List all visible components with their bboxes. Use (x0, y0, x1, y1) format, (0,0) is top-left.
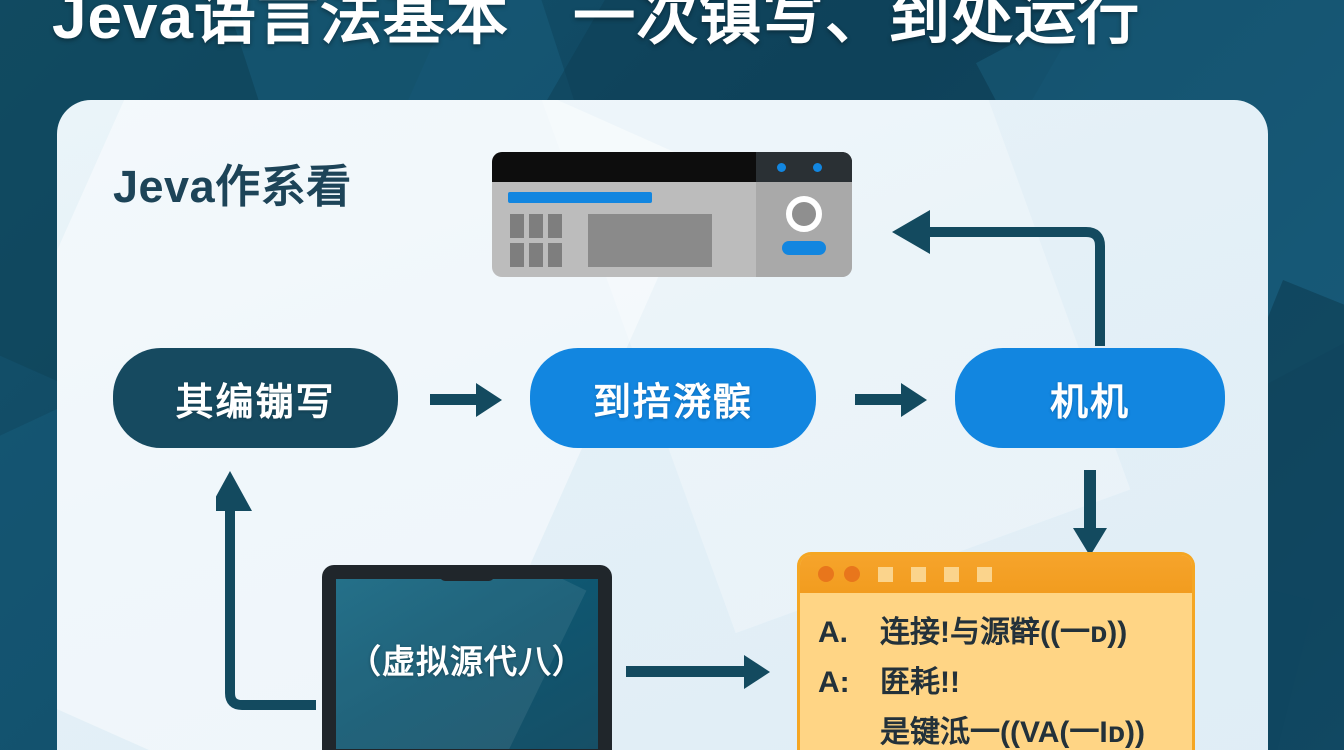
slide-title-part2: 一次镇写、到处运行 (573, 0, 1140, 52)
server-port (510, 214, 524, 238)
flow-node-machine[interactable]: 机机 (955, 348, 1225, 448)
server-port-grid (510, 214, 562, 267)
code-window-icon: A. 连接!与源辥((一ᴅ)) A: 匥耗!! 是键泜一((VA(一Iᴅ)) 自… (797, 552, 1195, 750)
arrow-shaft (855, 394, 903, 405)
arrow-head (901, 383, 927, 417)
arrow-head (476, 383, 502, 417)
code-window-dot-icon[interactable] (844, 566, 860, 582)
laptop-notch (440, 565, 494, 581)
arrow-shaft (1084, 470, 1096, 532)
laptop-icon: （虚拟源代八） (322, 565, 612, 750)
server-port (529, 214, 543, 238)
server-port (548, 243, 562, 267)
server-led-icon (813, 163, 822, 172)
server-port (510, 243, 524, 267)
server-port (529, 243, 543, 267)
code-window-titlebar (800, 555, 1192, 593)
code-window-square-icon (977, 567, 992, 582)
code-line-text: 匥耗!! (880, 657, 960, 701)
code-line-text: 是键泜一((VA(一Iᴅ)) (880, 707, 1145, 750)
arrow-compile-to-machine (855, 383, 927, 417)
server-dial-icon (786, 196, 822, 232)
arrow-source-to-compile (430, 383, 502, 417)
server-port (548, 214, 562, 238)
arrow-laptop-to-code (626, 655, 776, 689)
slide-title-part1: Jeva语言法基本 (52, 0, 509, 52)
flow-node-label: 机机 (1050, 371, 1130, 426)
section-label: Jeva作系看 (113, 150, 352, 215)
flow-node-label: 到掊溌髌 (593, 371, 753, 426)
code-line: 是键泜一((VA(一Iᴅ)) (818, 707, 1182, 750)
code-line-key: A: (818, 666, 880, 700)
arrow-machine-to-code (1073, 470, 1107, 560)
server-button-icon (782, 241, 826, 255)
arrow-shaft (430, 394, 478, 405)
arrow-shaft (626, 666, 746, 677)
code-line: A. 连接!与源辥((一ᴅ)) (818, 607, 1182, 651)
flow-node-label: 其编镚写 (175, 371, 335, 426)
code-window-body: A. 连接!与源辥((一ᴅ)) A: 匥耗!! 是键泜一((VA(一Iᴅ)) 自… (800, 593, 1192, 750)
server-display (588, 214, 712, 267)
server-led-icon (777, 163, 786, 172)
slide-canvas: Jeva语言法基本 一次镇写、到处运行 Jeva作系看 (0, 0, 1344, 750)
flow-node-source[interactable]: 其编镚写 (113, 348, 398, 448)
code-line: A: 匥耗!! (818, 657, 1182, 701)
code-window-dot-icon[interactable] (818, 566, 834, 582)
flow-node-compile[interactable]: 到掊溌髌 (530, 348, 816, 448)
arrow-machine-to-server (886, 186, 1106, 351)
server-top-right (756, 152, 852, 182)
code-window-square-icon (878, 567, 893, 582)
code-line-text: 连接!与源辥((一ᴅ)) (880, 607, 1127, 651)
arrow-head (744, 655, 770, 689)
code-line-key: A. (818, 616, 880, 650)
arrow-laptop-to-source (216, 463, 324, 713)
code-window-square-icon (911, 567, 926, 582)
server-rack-icon (492, 152, 852, 277)
slide-title: Jeva语言法基本 一次镇写、到处运行 (0, 0, 1344, 56)
laptop-screen-label: （虚拟源代八） (322, 635, 612, 683)
code-window-square-icon (944, 567, 959, 582)
server-status-bar (508, 192, 652, 203)
